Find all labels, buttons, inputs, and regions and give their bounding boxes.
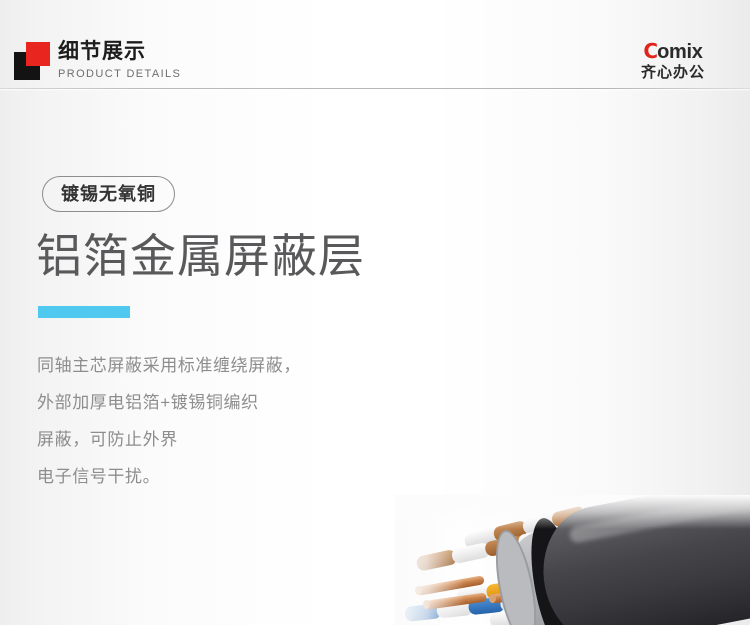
feature-headline: 铝箔金属屏蔽层 (36, 228, 365, 284)
description-line: 屏蔽，可防止外界 (37, 421, 457, 458)
description-line: 电子信号干扰。 (37, 458, 457, 495)
description-line: 同轴主芯屏蔽采用标准缠绕屏蔽， (37, 347, 457, 384)
feature-badge: 镀锡无氧铜 (42, 176, 175, 212)
copper-conductor-tip (415, 586, 422, 595)
copper-conductor-tip (423, 600, 430, 609)
feature-badge-label: 镀锡无氧铜 (61, 185, 156, 203)
accent-divider-bar (38, 306, 130, 318)
description-line: 外部加厚电铝箔+镀锡铜编织 (37, 384, 457, 421)
product-detail-page: 细节展示 PRODUCT DETAILS Comix 齐心办公 镀锡无氧铜 铝箔… (0, 0, 750, 625)
copper-conductor-tip (489, 594, 496, 603)
network-lan-cable-cutaway (395, 495, 750, 625)
feature-description: 同轴主芯屏蔽采用标准缠绕屏蔽， 外部加厚电铝箔+镀锡铜编织 屏蔽，可防止外界 电… (37, 347, 457, 495)
